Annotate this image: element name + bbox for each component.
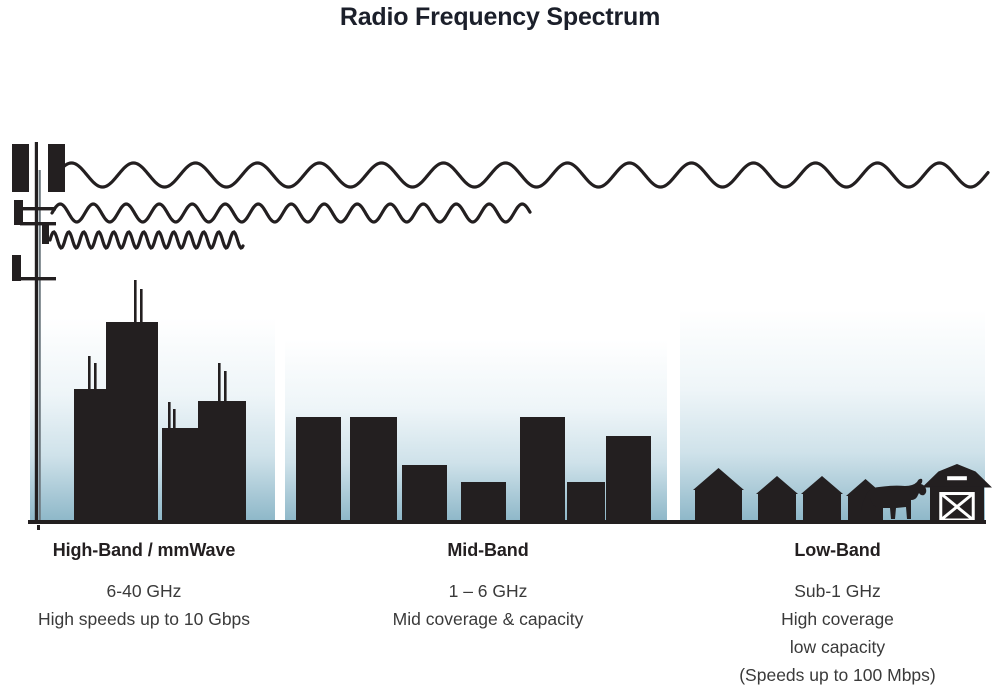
building-high-band	[106, 322, 158, 520]
barn-body	[930, 487, 984, 520]
building-mid-band	[567, 482, 605, 520]
band-labels: High-Band / mmWave 6-40 GHz High speeds …	[0, 540, 1000, 700]
radio-frequency-spectrum-infographic: Radio Frequency Spectrum High-Band / mmW…	[0, 0, 1000, 700]
tower-antenna	[12, 144, 29, 192]
band-description-high-band: 6-40 GHz High speeds up to 10 Gbps	[0, 577, 288, 633]
building-mid-band	[296, 417, 341, 520]
house-body	[803, 494, 841, 520]
building-spire	[140, 289, 143, 326]
band-title-high-band: High-Band / mmWave	[0, 540, 288, 561]
tower-mast	[35, 142, 38, 520]
mid-band-wave	[52, 204, 530, 222]
band-title-low-band: Low-Band	[675, 540, 1000, 561]
tower-antenna	[14, 200, 23, 225]
house-body	[758, 494, 796, 520]
tower-crossbar	[20, 222, 56, 225]
page-title: Radio Frequency Spectrum	[0, 3, 1000, 32]
band-line: 6-40 GHz	[0, 577, 288, 605]
building-spire	[168, 402, 171, 432]
tower-foot	[37, 525, 40, 530]
band-line: Mid coverage & capacity	[338, 605, 638, 633]
building-spire	[134, 280, 137, 326]
building-high-band	[162, 428, 202, 520]
barn-hayloft-window	[947, 476, 967, 480]
building-mid-band	[606, 436, 651, 520]
building-spire	[218, 363, 221, 405]
tower-crossbar	[20, 207, 56, 210]
spectrum-illustration	[0, 130, 1000, 530]
band-line: High coverage	[675, 605, 1000, 633]
band-line: low capacity	[675, 633, 1000, 661]
band-line: High speeds up to 10 Gbps	[0, 605, 288, 633]
building-spire	[88, 356, 91, 393]
tower-crossbar	[20, 277, 56, 280]
band-description-low-band: Sub-1 GHz High coverage low capacity (Sp…	[675, 577, 1000, 689]
ground-baseline	[28, 520, 986, 524]
building-mid-band	[402, 465, 447, 520]
building-mid-band	[461, 482, 506, 520]
high-band-wave	[50, 232, 243, 248]
band-line: (Speeds up to 100 Mbps)	[675, 661, 1000, 689]
band-column-mid-band: Mid-Band 1 – 6 GHz Mid coverage & capaci…	[338, 540, 638, 633]
tower-antenna	[48, 144, 65, 192]
low-band-wave	[56, 163, 988, 187]
band-title-mid-band: Mid-Band	[338, 540, 638, 561]
building-mid-band	[520, 417, 565, 520]
radio-wave-layer	[50, 163, 988, 248]
spectrum-scene-svg	[0, 130, 1000, 530]
house-body	[695, 490, 742, 520]
building-high-band	[198, 401, 246, 520]
band-column-high-band: High-Band / mmWave 6-40 GHz High speeds …	[0, 540, 288, 633]
band-line: 1 – 6 GHz	[338, 577, 638, 605]
tower-antenna	[12, 255, 21, 281]
building-spire	[94, 363, 97, 393]
building-spire	[224, 371, 227, 405]
band-description-mid-band: 1 – 6 GHz Mid coverage & capacity	[338, 577, 638, 633]
ground-line	[28, 520, 986, 524]
band-column-low-band: Low-Band Sub-1 GHz High coverage low cap…	[675, 540, 1000, 689]
building-mid-band	[350, 417, 397, 520]
band-line: Sub-1 GHz	[675, 577, 1000, 605]
tower-antenna	[42, 222, 49, 244]
